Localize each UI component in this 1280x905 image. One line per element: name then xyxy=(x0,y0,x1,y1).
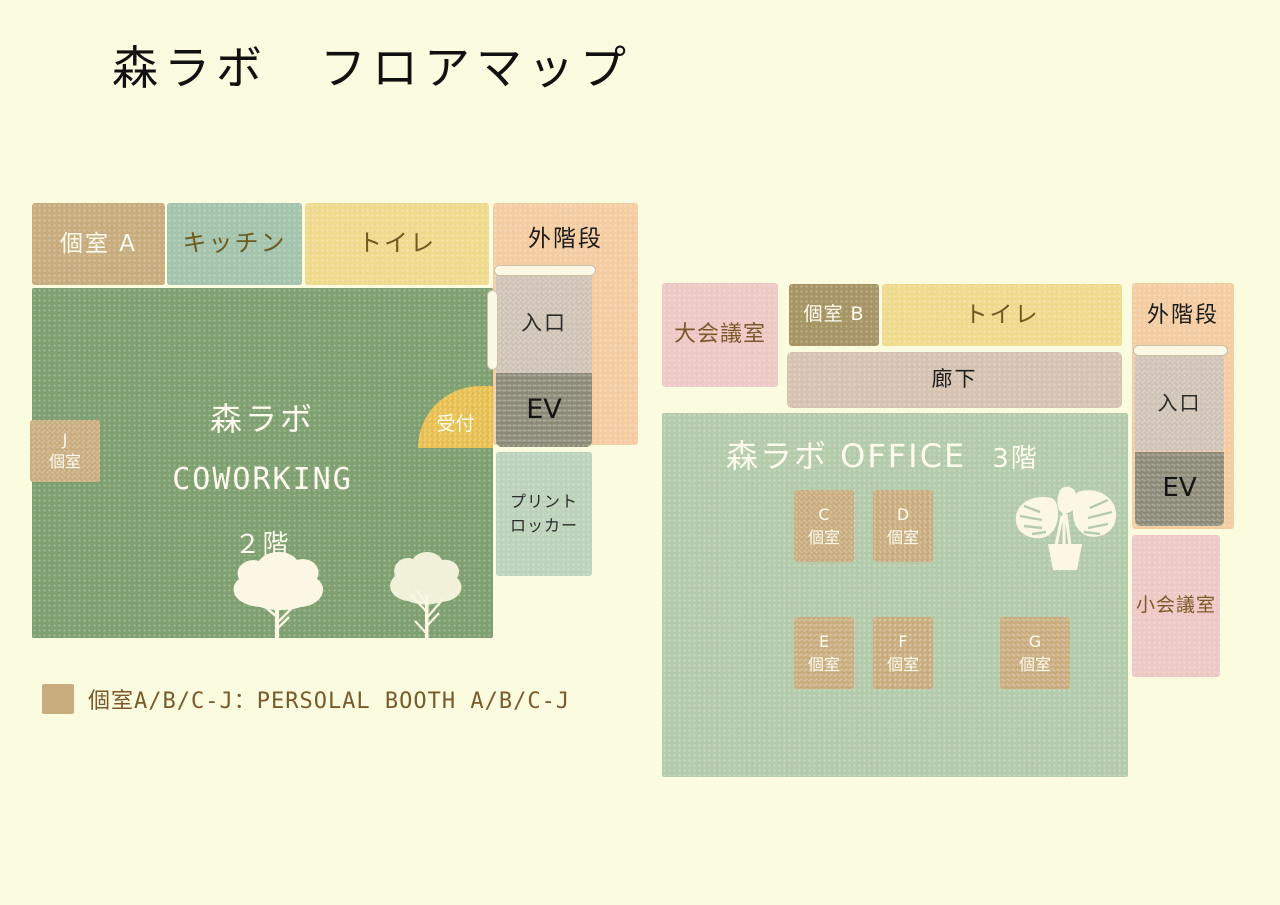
room-label: プリント ロッカー xyxy=(510,490,578,538)
floor-area-office-3f[interactable]: 森ラボ OFFICE 3階 xyxy=(662,413,1128,777)
room-label: キッチン xyxy=(183,229,287,258)
room-label: 外階段 xyxy=(528,225,603,253)
door-strip-top-3f xyxy=(1133,345,1228,356)
room-label: E 個室 xyxy=(808,630,840,676)
room-label: EV xyxy=(526,394,562,427)
floor-title-line1: 森ラボ OFFICE xyxy=(726,437,966,476)
door-strip-side-2f xyxy=(487,290,498,370)
room-label: EV xyxy=(1162,473,1196,505)
room-label: 外階段 xyxy=(1147,303,1219,330)
room-entrance-3f[interactable]: 入口 xyxy=(1135,355,1224,451)
floor-title-line2: COWORKING xyxy=(172,462,353,499)
room-label: 廊下 xyxy=(932,367,978,393)
room-label: J 個室 xyxy=(49,429,81,472)
floor-title-line1: 森ラボ xyxy=(172,400,353,439)
room-booth-f-3f[interactable]: F 個室 xyxy=(873,617,933,689)
room-label: F 個室 xyxy=(887,630,919,676)
room-small-meeting-3f[interactable]: 小会議室 xyxy=(1132,535,1220,677)
room-booth-b-3f[interactable]: 個室 B xyxy=(789,284,879,346)
room-label: 受付 xyxy=(436,413,474,436)
room-label: C 個室 xyxy=(808,503,840,549)
room-booth-c-3f[interactable]: C 個室 xyxy=(794,490,854,562)
room-label: 個室 B xyxy=(803,303,864,326)
room-booth-e-3f[interactable]: E 個室 xyxy=(794,617,854,689)
floor-title-line3: ２階 xyxy=(172,530,353,562)
room-toilet-3f[interactable]: トイレ xyxy=(882,284,1122,346)
room-booth-d-3f[interactable]: D 個室 xyxy=(873,490,933,562)
room-label: D 個室 xyxy=(887,503,919,549)
room-label: 小会議室 xyxy=(1136,594,1216,617)
room-label: 入口 xyxy=(521,311,567,337)
room-booth-g-3f[interactable]: G 個室 xyxy=(1000,617,1070,689)
floor-title-line2: 3階 xyxy=(992,444,1039,476)
room-elevator-3f[interactable]: EV xyxy=(1135,452,1224,526)
room-label: トイレ xyxy=(965,301,1040,329)
room-label: トイレ xyxy=(358,229,436,258)
room-large-meeting-3f[interactable]: 大会議室 xyxy=(662,283,778,387)
room-label: 個室 A xyxy=(60,230,137,258)
room-label: G 個室 xyxy=(1019,630,1051,676)
room-label: 入口 xyxy=(1158,391,1202,415)
door-strip-top-2f xyxy=(494,265,596,276)
room-label: 大会議室 xyxy=(674,322,766,349)
room-corridor-3f[interactable]: 廊下 xyxy=(787,352,1122,408)
